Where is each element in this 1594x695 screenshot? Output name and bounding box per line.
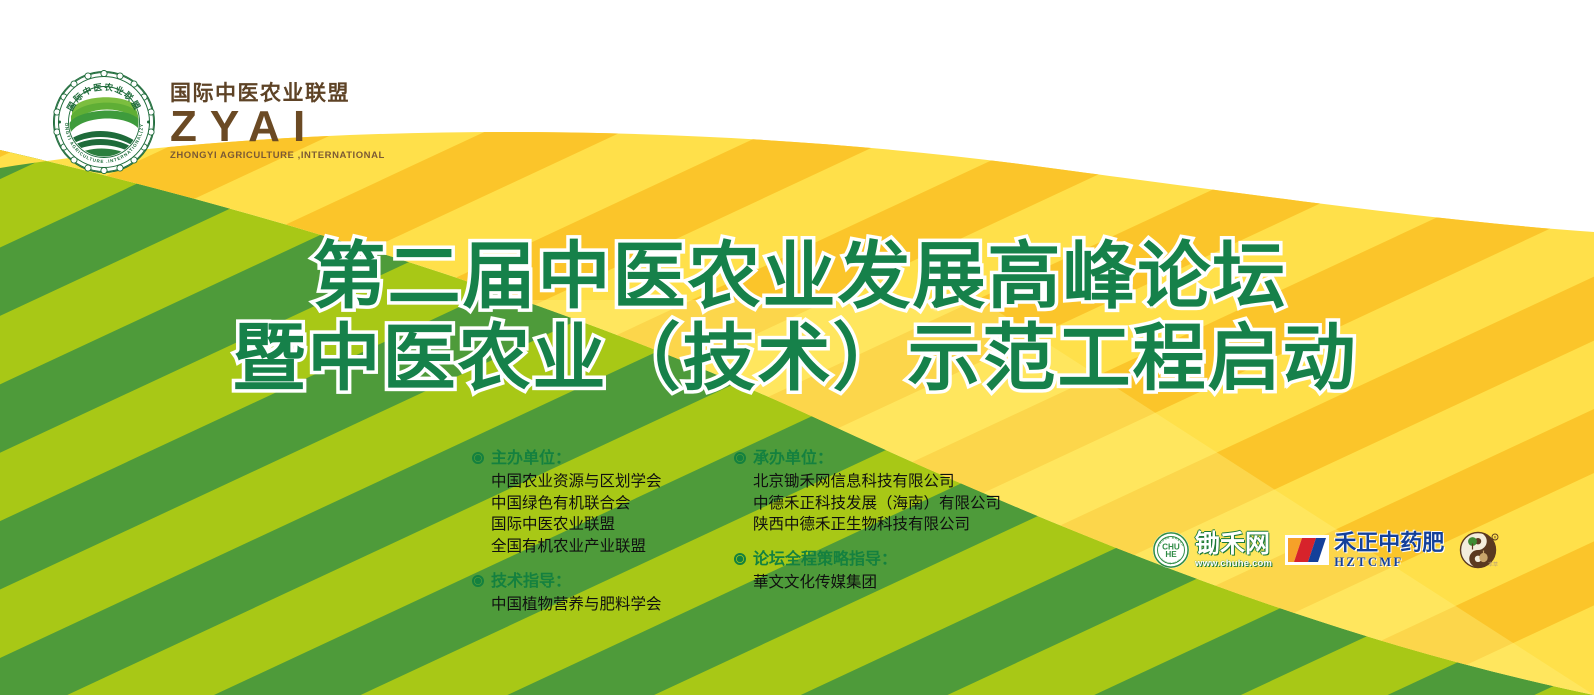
svg-text:HE: HE [1165, 550, 1177, 559]
heading-text: 技术指导： [491, 571, 571, 593]
group-item-list: 中国农业资源与区划学会 中国绿色有机联合会 国际中医农业联盟 全国有机农业产业联… [491, 471, 734, 558]
chuhe-text-block: 锄禾网 www.chuhe.com [1195, 532, 1272, 569]
group-item-list: 北京锄禾网信息科技有限公司 中德禾正科技发展（海南）有限公司 陕西中德禾正生物科… [753, 471, 1034, 536]
organizer-info: 主办单位： 中国农业资源与区划学会 中国绿色有机联合会 国际中医农业联盟 全国有… [472, 448, 1034, 616]
org-name-cn: 国际中医农业联盟 [170, 83, 385, 104]
org-name-en: ZHONGYI AGRICULTURE ,INTERNATIONAL [170, 151, 385, 161]
list-item: 国际中医农业联盟 [491, 514, 734, 536]
list-item: 全国有机农业产业联盟 [491, 536, 734, 558]
list-item: 中德禾正科技发展（海南）有限公司 [753, 493, 1034, 515]
bullet-icon [734, 553, 746, 565]
zyai-logo-lockup: 国际中医农业联盟 ZHONGYI AGRICULTURE .INTERNATIO… [52, 70, 385, 174]
chuhe-url: www.chuhe.com [1195, 559, 1272, 569]
group-heading-tech-guidance: 技术指导： [472, 571, 734, 593]
group-heading-strategy-guidance: 论坛全程策略指导： [734, 549, 1034, 571]
svg-text:R: R [1494, 535, 1497, 539]
list-item: 北京锄禾网信息科技有限公司 [753, 471, 1034, 493]
bullet-icon [472, 452, 484, 464]
svg-text:本草: 本草 [1488, 561, 1498, 568]
hzt-text-block: 禾正中药肥 HZTCMF [1334, 532, 1444, 569]
bullet-icon [734, 452, 746, 464]
info-group-host: 主办单位： 中国农业资源与区划学会 中国绿色有机联合会 国际中医农业联盟 全国有… [472, 448, 734, 558]
heading-text: 主办单位： [491, 448, 571, 470]
info-column-right: 承办单位： 北京锄禾网信息科技有限公司 中德禾正科技发展（海南）有限公司 陕西中… [734, 448, 1034, 616]
zyai-circular-emblem: 国际中医农业联盟 ZHONGYI AGRICULTURE .INTERNATIO… [52, 70, 156, 174]
list-item: 中国农业资源与区划学会 [491, 471, 734, 493]
group-heading-organizer: 承办单位： [734, 448, 1034, 470]
group-item-list: 華文文化传媒集团 [753, 572, 1034, 594]
info-group-strategy-guidance: 论坛全程策略指导： 華文文化传媒集团 [734, 549, 1034, 594]
sponsor-logo-hezheng: 禾正中药肥 HZTCMF [1285, 532, 1444, 569]
list-item: 中国绿色有机联合会 [491, 493, 734, 515]
hzt-name-en: HZTCMF [1334, 556, 1444, 569]
hzt-parallelogram-icon [1285, 535, 1329, 565]
hzt-name-cn: 禾正中药肥 [1334, 532, 1444, 554]
bullet-icon [472, 575, 484, 587]
org-acronym: ZYAI [170, 106, 385, 148]
info-group-tech-guidance: 技术指导： 中国植物营养与肥料学会 [472, 571, 734, 616]
info-column-left: 主办单位： 中国农业资源与区划学会 中国绿色有机联合会 国际中医农业联盟 全国有… [472, 448, 734, 616]
heading-text: 论坛全程策略指导： [753, 549, 897, 571]
sponsor-logo-yinyang: R 本草 [1457, 528, 1503, 572]
group-item-list: 中国植物营养与肥料学会 [491, 594, 734, 616]
yinyang-plant-seal-icon: R 本草 [1457, 528, 1503, 572]
banner-canvas: 国际中医农业联盟 ZHONGYI AGRICULTURE .INTERNATIO… [0, 0, 1594, 695]
info-group-organizer: 承办单位： 北京锄禾网信息科技有限公司 中德禾正科技发展（海南）有限公司 陕西中… [734, 448, 1034, 536]
sponsor-logo-chuhe: CHUHE BRAND CHU HE WANG CHU HE 锄禾网 www.c… [1152, 531, 1272, 569]
sponsor-logo-row: CHUHE BRAND CHU HE WANG CHU HE 锄禾网 www.c… [1152, 528, 1503, 572]
heading-text: 承办单位： [753, 448, 833, 470]
list-item: 陕西中德禾正生物科技有限公司 [753, 514, 1034, 536]
list-item: 中国植物营养与肥料学会 [491, 594, 734, 616]
list-item: 華文文化传媒集团 [753, 572, 1034, 594]
group-heading-host: 主办单位： [472, 448, 734, 470]
zyai-wordmark: 国际中医农业联盟 ZYAI ZHONGYI AGRICULTURE ,INTER… [170, 83, 385, 160]
chuhe-name-cn: 锄禾网 [1195, 532, 1272, 557]
chuhe-seal-icon: CHUHE BRAND CHU HE WANG CHU HE [1152, 531, 1190, 569]
